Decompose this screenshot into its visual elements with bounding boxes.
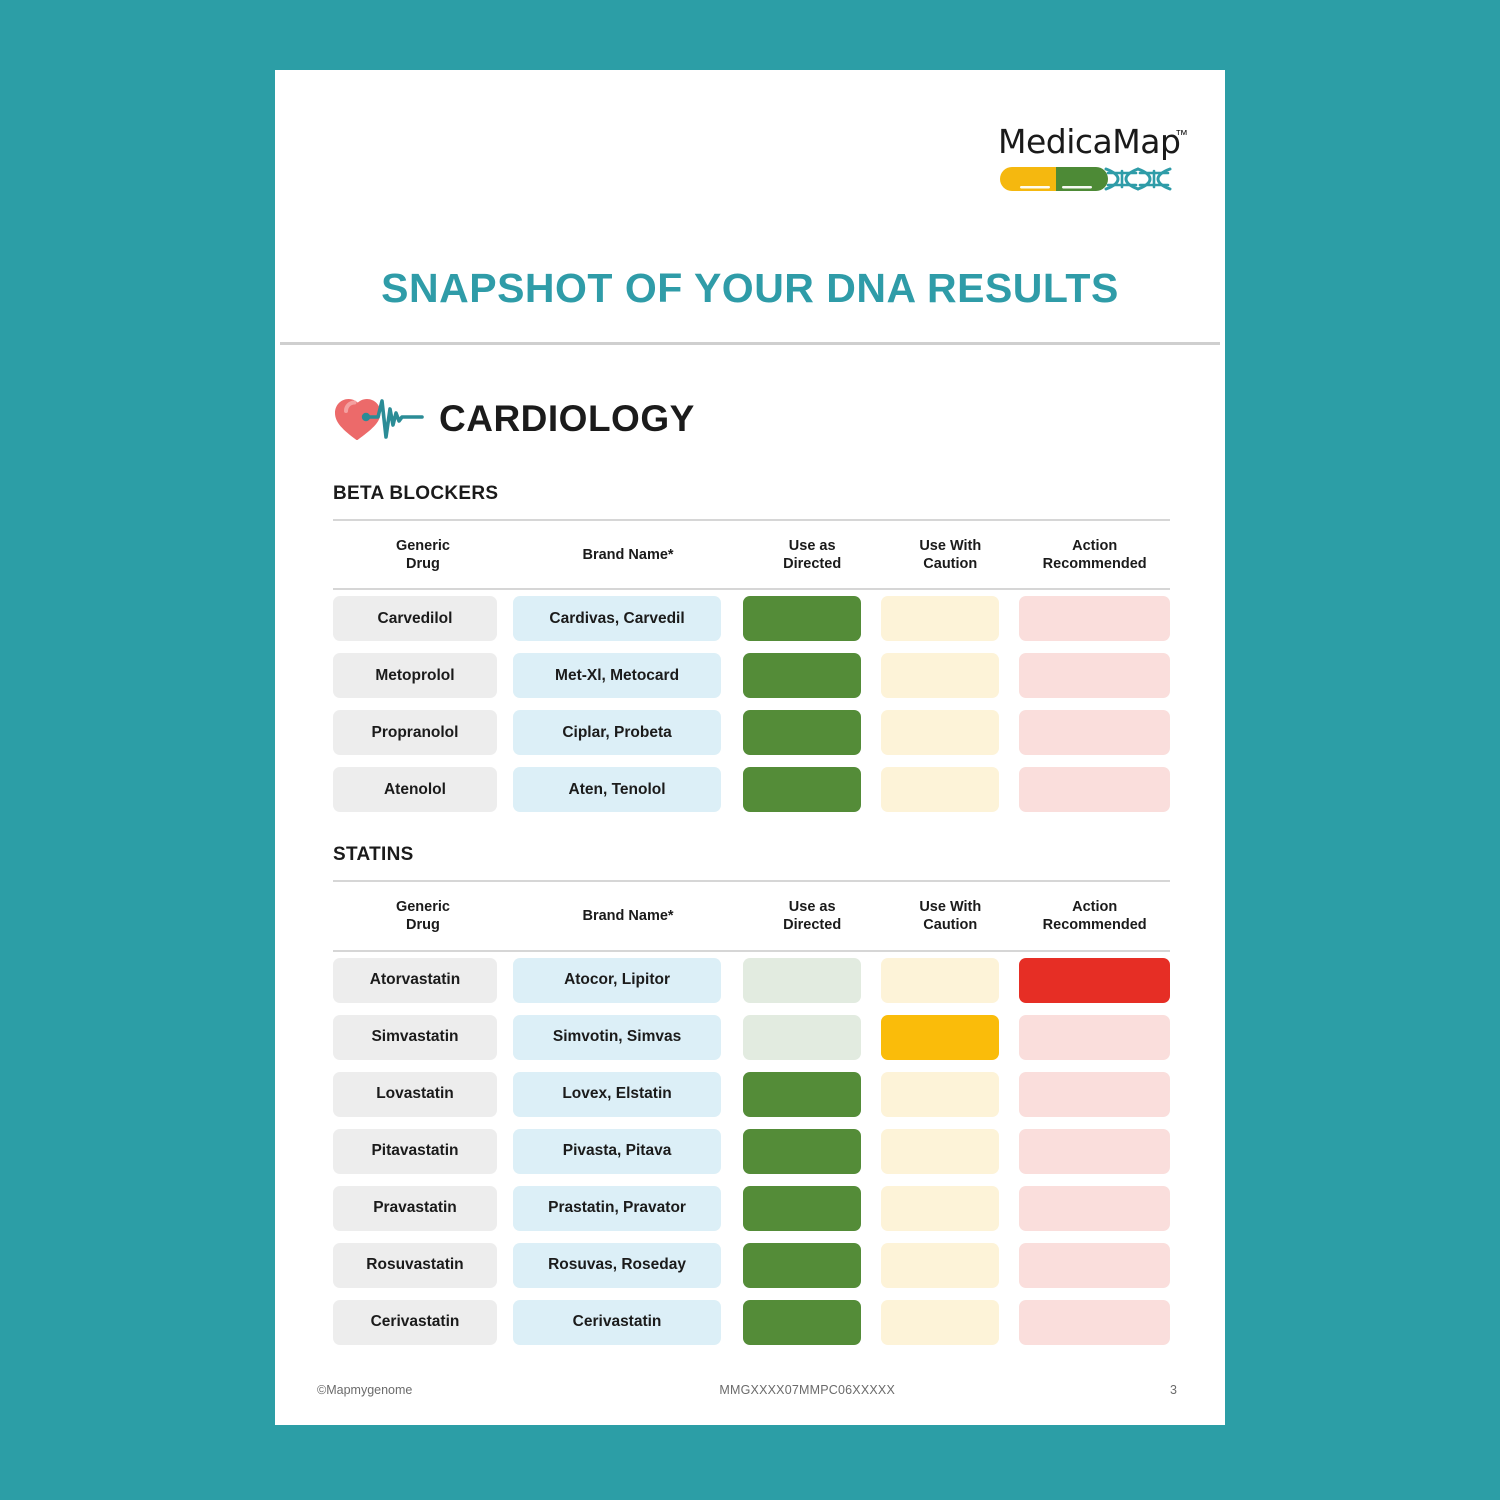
column-header-use-with-caution: Use With Caution [881, 881, 1019, 950]
use-as-directed-indicator [743, 1129, 861, 1174]
logo-wordmark: MedicaMap [998, 125, 1180, 158]
cell-use-with-caution [881, 951, 1019, 1009]
cell-generic-drug: Metoprolol [333, 647, 513, 704]
page-header: MedicaMap ™ SNAPSHOT OF YOUR DNA RESULT [275, 70, 1225, 345]
cell-use-as-directed [743, 1009, 881, 1066]
header-line-1: Use With [919, 538, 981, 554]
cell-brand-name: Pivasta, Pitava [513, 1123, 743, 1180]
column-header-brand-name: Brand Name* [513, 881, 743, 950]
use-as-directed-indicator [743, 653, 861, 698]
cell-action-recommended [1019, 1066, 1170, 1123]
use-with-caution-indicator [881, 1129, 999, 1174]
table-row: CarvedilolCardivas, Carvedil [333, 589, 1170, 647]
cell-brand-name: Cerivastatin [513, 1294, 743, 1351]
header-line-2: Caution [923, 556, 977, 572]
cell-action-recommended [1019, 1237, 1170, 1294]
generic-drug-label: Carvedilol [333, 596, 497, 641]
table-header-row: Generic Drug Brand Name* Use as Directed… [333, 520, 1170, 589]
action-recommended-indicator [1019, 1186, 1170, 1231]
generic-drug-label: Atenolol [333, 767, 497, 812]
column-header-brand-name: Brand Name* [513, 520, 743, 589]
footer-copyright: ©Mapmygenome [317, 1383, 541, 1397]
cell-use-as-directed [743, 1237, 881, 1294]
drug-table-statins: Generic Drug Brand Name* Use as Directed… [333, 880, 1170, 1350]
header-line-2: Caution [923, 917, 977, 933]
table-row: PitavastatinPivasta, Pitava [333, 1123, 1170, 1180]
generic-drug-label: Simvastatin [333, 1015, 497, 1060]
use-with-caution-indicator [881, 1015, 999, 1060]
action-recommended-indicator [1019, 653, 1170, 698]
table-row: RosuvastatinRosuvas, Roseday [333, 1237, 1170, 1294]
cell-action-recommended [1019, 951, 1170, 1009]
use-with-caution-indicator [881, 958, 999, 1003]
cell-use-with-caution [881, 1180, 1019, 1237]
brand-name-label: Ciplar, Probeta [513, 710, 721, 755]
header-line-1: Generic [396, 538, 450, 554]
table-row: PropranololCiplar, Probeta [333, 704, 1170, 761]
cell-generic-drug: Cerivastatin [333, 1294, 513, 1351]
generic-drug-label: Metoprolol [333, 653, 497, 698]
cell-brand-name: Prastatin, Pravator [513, 1180, 743, 1237]
header-line-1: Use With [919, 899, 981, 915]
header-line-2: Recommended [1043, 917, 1147, 933]
brand-name-label: Met-Xl, Metocard [513, 653, 721, 698]
cell-use-as-directed [743, 704, 881, 761]
medicamap-logo: MedicaMap ™ [990, 125, 1190, 197]
use-as-directed-indicator [743, 1015, 861, 1060]
drug-group-beta-blockers: BETA BLOCKERS Generic Drug Brand Name* U [333, 483, 1170, 818]
cell-use-as-directed [743, 1066, 881, 1123]
column-header-use-as-directed: Use as Directed [743, 881, 881, 950]
cell-action-recommended [1019, 761, 1170, 818]
generic-drug-label: Pitavastatin [333, 1129, 497, 1174]
use-with-caution-indicator [881, 710, 999, 755]
cell-use-with-caution [881, 1237, 1019, 1294]
generic-drug-label: Rosuvastatin [333, 1243, 497, 1288]
column-header-action-recommended: Action Recommended [1019, 881, 1170, 950]
use-with-caution-indicator [881, 1186, 999, 1231]
brand-name-label: Pivasta, Pitava [513, 1129, 721, 1174]
cell-use-as-directed [743, 1180, 881, 1237]
generic-drug-label: Lovastatin [333, 1072, 497, 1117]
cell-use-as-directed [743, 647, 881, 704]
use-as-directed-indicator [743, 767, 861, 812]
brand-name-label: Simvotin, Simvas [513, 1015, 721, 1060]
column-header-generic-drug: Generic Drug [333, 520, 513, 589]
generic-drug-label: Atorvastatin [333, 958, 497, 1003]
brand-name-label: Cerivastatin [513, 1300, 721, 1345]
header-line-2: Drug [406, 917, 440, 933]
brand-name-label: Aten, Tenolol [513, 767, 721, 812]
action-recommended-indicator [1019, 1015, 1170, 1060]
cell-use-with-caution [881, 1066, 1019, 1123]
report-page: MedicaMap ™ SNAPSHOT OF YOUR DNA RESULT [275, 70, 1225, 1425]
drug-table-beta-blockers: Generic Drug Brand Name* Use as Directed… [333, 519, 1170, 818]
table-row: CerivastatinCerivastatin [333, 1294, 1170, 1351]
cell-generic-drug: Pravastatin [333, 1180, 513, 1237]
use-with-caution-indicator [881, 1300, 999, 1345]
column-header-use-as-directed: Use as Directed [743, 520, 881, 589]
cell-use-with-caution [881, 704, 1019, 761]
cell-brand-name: Cardivas, Carvedil [513, 589, 743, 647]
table-body: CarvedilolCardivas, CarvedilMetoprololMe… [333, 589, 1170, 818]
use-with-caution-indicator [881, 596, 999, 641]
cell-action-recommended [1019, 589, 1170, 647]
cell-generic-drug: Rosuvastatin [333, 1237, 513, 1294]
cell-generic-drug: Lovastatin [333, 1066, 513, 1123]
header-line-2: Directed [783, 917, 841, 933]
use-as-directed-indicator [743, 596, 861, 641]
action-recommended-indicator [1019, 1243, 1170, 1288]
table-row: SimvastatinSimvotin, Simvas [333, 1009, 1170, 1066]
header-line-2: Directed [783, 556, 841, 572]
action-recommended-indicator [1019, 958, 1170, 1003]
cell-use-as-directed [743, 951, 881, 1009]
header-line-1: Action [1072, 538, 1117, 554]
cell-use-with-caution [881, 1009, 1019, 1066]
cell-brand-name: Ciplar, Probeta [513, 704, 743, 761]
brand-name-label: Cardivas, Carvedil [513, 596, 721, 641]
page-footer: ©Mapmygenome MMGXXXX07MMPC06XXXXX 3 [275, 1355, 1225, 1425]
table-row: LovastatinLovex, Elstatin [333, 1066, 1170, 1123]
table-row: MetoprololMet-Xl, Metocard [333, 647, 1170, 704]
cell-brand-name: Met-Xl, Metocard [513, 647, 743, 704]
column-header-action-recommended: Action Recommended [1019, 520, 1170, 589]
generic-drug-label: Cerivastatin [333, 1300, 497, 1345]
action-recommended-indicator [1019, 1300, 1170, 1345]
use-as-directed-indicator [743, 1300, 861, 1345]
footer-page-number: 3 [1074, 1383, 1177, 1397]
action-recommended-indicator [1019, 710, 1170, 755]
use-with-caution-indicator [881, 653, 999, 698]
cell-brand-name: Simvotin, Simvas [513, 1009, 743, 1066]
use-as-directed-indicator [743, 1072, 861, 1117]
brand-name-label: Lovex, Elstatin [513, 1072, 721, 1117]
action-recommended-indicator [1019, 767, 1170, 812]
use-with-caution-indicator [881, 1243, 999, 1288]
cell-action-recommended [1019, 1123, 1170, 1180]
group-title: STATINS [333, 844, 1170, 866]
generic-drug-label: Propranolol [333, 710, 497, 755]
table-header-row: Generic Drug Brand Name* Use as Directed… [333, 881, 1170, 950]
header-line-1: Use as [789, 899, 836, 915]
action-recommended-indicator [1019, 1129, 1170, 1174]
drug-group-statins: STATINS Generic Drug Brand Name* Use as [333, 844, 1170, 1350]
table-row: PravastatinPrastatin, Pravator [333, 1180, 1170, 1237]
cell-use-as-directed [743, 761, 881, 818]
report-content: CARDIOLOGY BETA BLOCKERS Generic Drug Br… [275, 345, 1225, 1355]
cell-use-with-caution [881, 761, 1019, 818]
group-title: BETA BLOCKERS [333, 483, 1170, 505]
cell-generic-drug: Carvedilol [333, 589, 513, 647]
use-as-directed-indicator [743, 958, 861, 1003]
header-line-2: Recommended [1043, 556, 1147, 572]
section-header-cardiology: CARDIOLOGY [333, 393, 1170, 445]
cell-generic-drug: Atorvastatin [333, 951, 513, 1009]
column-header-use-with-caution: Use With Caution [881, 520, 1019, 589]
cell-generic-drug: Propranolol [333, 704, 513, 761]
cell-brand-name: Lovex, Elstatin [513, 1066, 743, 1123]
header-line-1: Use as [789, 538, 836, 554]
cell-brand-name: Rosuvas, Roseday [513, 1237, 743, 1294]
brand-name-label: Atocor, Lipitor [513, 958, 721, 1003]
cell-action-recommended [1019, 704, 1170, 761]
action-recommended-indicator [1019, 1072, 1170, 1117]
header-divider [280, 342, 1220, 345]
cell-generic-drug: Simvastatin [333, 1009, 513, 1066]
cell-brand-name: Aten, Tenolol [513, 761, 743, 818]
header-line-2: Drug [406, 556, 440, 572]
cell-use-with-caution [881, 647, 1019, 704]
cell-action-recommended [1019, 647, 1170, 704]
use-with-caution-indicator [881, 1072, 999, 1117]
heart-ecg-icon [333, 393, 425, 445]
cell-use-as-directed [743, 589, 881, 647]
page-title: SNAPSHOT OF YOUR DNA RESULTS [275, 265, 1225, 312]
header-line-1: Action [1072, 899, 1117, 915]
use-as-directed-indicator [743, 1243, 861, 1288]
cell-use-with-caution [881, 1123, 1019, 1180]
use-as-directed-indicator [743, 710, 861, 755]
cell-use-as-directed [743, 1294, 881, 1351]
cell-action-recommended [1019, 1009, 1170, 1066]
cell-action-recommended [1019, 1294, 1170, 1351]
footer-report-code: MMGXXXX07MMPC06XXXXX [541, 1383, 1074, 1397]
action-recommended-indicator [1019, 596, 1170, 641]
cell-use-as-directed [743, 1123, 881, 1180]
use-as-directed-indicator [743, 1186, 861, 1231]
use-with-caution-indicator [881, 767, 999, 812]
table-row: AtenololAten, Tenolol [333, 761, 1170, 818]
cell-brand-name: Atocor, Lipitor [513, 951, 743, 1009]
brand-name-label: Rosuvas, Roseday [513, 1243, 721, 1288]
pill-dna-icon [1000, 165, 1178, 193]
cell-use-with-caution [881, 589, 1019, 647]
section-spacer [333, 818, 1170, 844]
column-header-generic-drug: Generic Drug [333, 881, 513, 950]
trademark-symbol: ™ [1175, 127, 1188, 142]
cell-use-with-caution [881, 1294, 1019, 1351]
header-line-1: Generic [396, 899, 450, 915]
section-title: CARDIOLOGY [439, 398, 695, 440]
cell-generic-drug: Atenolol [333, 761, 513, 818]
table-row: AtorvastatinAtocor, Lipitor [333, 951, 1170, 1009]
generic-drug-label: Pravastatin [333, 1186, 497, 1231]
cell-action-recommended [1019, 1180, 1170, 1237]
brand-name-label: Prastatin, Pravator [513, 1186, 721, 1231]
cell-generic-drug: Pitavastatin [333, 1123, 513, 1180]
table-body: AtorvastatinAtocor, LipitorSimvastatinSi… [333, 951, 1170, 1351]
